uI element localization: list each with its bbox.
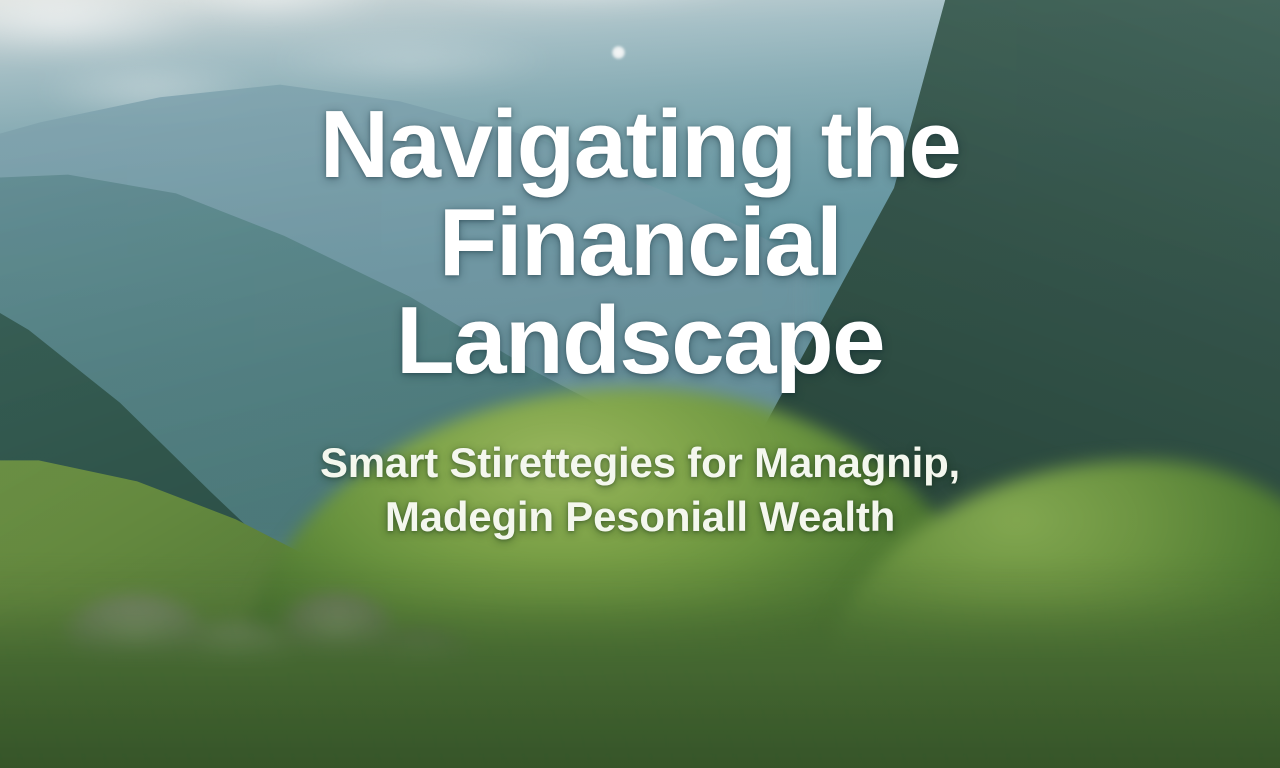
slide-title-line-3: Landscape [190, 292, 1090, 390]
slide-title-line-1: Navigating the [190, 96, 1090, 194]
slide-title: Navigating the Financial Landscape [190, 96, 1090, 390]
slide-canvas: Navigating the Financial Landscape Smart… [0, 0, 1280, 768]
text-overlay: Navigating the Financial Landscape Smart… [0, 0, 1280, 768]
slide-title-line-2: Financial [190, 194, 1090, 292]
slide-subtitle-line-2: Madegin Pesoniall Wealth [200, 490, 1080, 545]
slide-subtitle: Smart Stirettegies for Managnip, Madegin… [200, 436, 1080, 545]
slide-subtitle-line-1: Smart Stirettegies for Managnip, [200, 436, 1080, 491]
